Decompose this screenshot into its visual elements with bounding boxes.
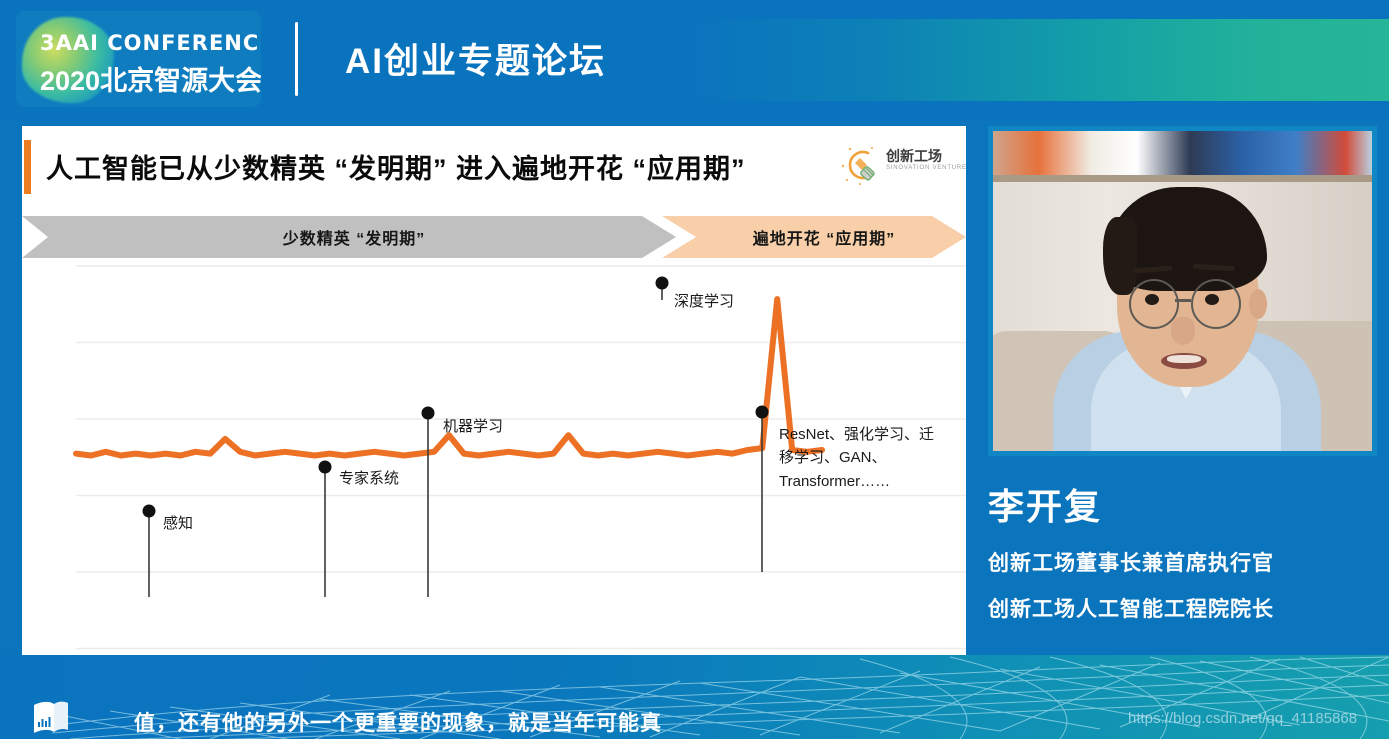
phase-label-application: 遍地开花 “应用期” bbox=[753, 225, 895, 249]
slide-title: 人工智能已从少数精英 “发明期” 进入遍地开花 “应用期” bbox=[46, 147, 746, 186]
title-accent-bar bbox=[24, 140, 31, 194]
header-gradient-band bbox=[690, 19, 1389, 101]
ai-hype-line-chart: 感知专家系统机器学习深度学习ResNet、强化学习、迁 移学习、GAN、 Tra… bbox=[22, 264, 966, 655]
sinovation-logo-en: SINOVATION VENTURES bbox=[886, 165, 966, 171]
speaker-info: 李开复 创新工场董事长兼首席执行官 创新工场人工智能工程院院长 bbox=[988, 470, 1377, 655]
baai-logo-line1: 3AAI CONFERENCE bbox=[40, 31, 255, 55]
video-person-ear bbox=[1249, 289, 1267, 319]
speaker-title-line2: 创新工场人工智能工程院院长 bbox=[988, 593, 1274, 623]
subtitle-caption: 值，还有他的另外一个更重要的现象，就是当年可能真 bbox=[134, 707, 662, 737]
baai-conference-logo: 3AAI CONFERENCE 2020北京智源大会 bbox=[16, 11, 261, 107]
sinovation-logo-cn: 创新工场 bbox=[886, 146, 942, 166]
video-person-glasses-bridge bbox=[1175, 299, 1191, 302]
sinovation-ventures-logo: 创新工场 SINOVATION VENTURES bbox=[838, 144, 962, 188]
phase-chevron-invention: 少数精英 “发明期” bbox=[22, 216, 676, 258]
annotation-label: 感知 bbox=[163, 512, 193, 535]
annotation-label: 深度学习 bbox=[674, 290, 734, 313]
speaker-video-feed[interactable] bbox=[988, 126, 1377, 456]
annotation-marker-dot bbox=[756, 406, 769, 419]
slide-title-bar: 人工智能已从少数精英 “发明期” 进入遍地开花 “应用期” 创新工场 SINOV… bbox=[22, 126, 966, 208]
video-person-teeth bbox=[1167, 355, 1201, 363]
lightbulb-icon bbox=[838, 144, 884, 188]
source-watermark: https://blog.csdn.net/qq_41185868 bbox=[1128, 710, 1357, 727]
video-wall-artwork bbox=[993, 131, 1372, 179]
speaker-title-line1: 创新工场董事长兼首席执行官 bbox=[988, 547, 1274, 577]
video-person-eye-left bbox=[1145, 294, 1159, 305]
video-person-eye-right bbox=[1205, 294, 1219, 305]
phase-chevron-application: 遍地开花 “应用期” bbox=[662, 216, 966, 258]
conference-header: 3AAI CONFERENCE 2020北京智源大会 AI创业专题论坛 bbox=[0, 0, 1389, 119]
speaker-name: 李开复 bbox=[988, 478, 1102, 530]
annotation-marker-dot bbox=[143, 505, 156, 518]
annotation-marker-dot bbox=[319, 461, 332, 474]
annotation-label: ResNet、强化学习、迁 移学习、GAN、 Transformer…… bbox=[779, 423, 934, 493]
forum-title: AI创业专题论坛 bbox=[345, 33, 606, 84]
phase-band: 少数精英 “发明期” 遍地开花 “应用期” bbox=[22, 216, 966, 258]
header-divider bbox=[295, 22, 298, 96]
presentation-slide[interactable]: 人工智能已从少数精英 “发明期” 进入遍地开花 “应用期” 创新工场 SINOV… bbox=[22, 126, 966, 655]
book-icon bbox=[30, 700, 72, 736]
annotation-marker-dot bbox=[422, 407, 435, 420]
video-person-nose bbox=[1171, 317, 1195, 345]
video-artwork-frame bbox=[993, 175, 1372, 182]
annotation-marker-dot bbox=[656, 277, 669, 290]
screen-root: 3AAI CONFERENCE 2020北京智源大会 AI创业专题论坛 人工智能… bbox=[0, 0, 1389, 739]
video-person-hair-side bbox=[1103, 217, 1137, 295]
phase-label-invention: 少数精英 “发明期” bbox=[283, 225, 425, 249]
annotation-label: 专家系统 bbox=[339, 467, 399, 490]
baai-logo-line2: 2020北京智源大会 bbox=[40, 59, 255, 98]
annotation-label: 机器学习 bbox=[443, 415, 503, 438]
